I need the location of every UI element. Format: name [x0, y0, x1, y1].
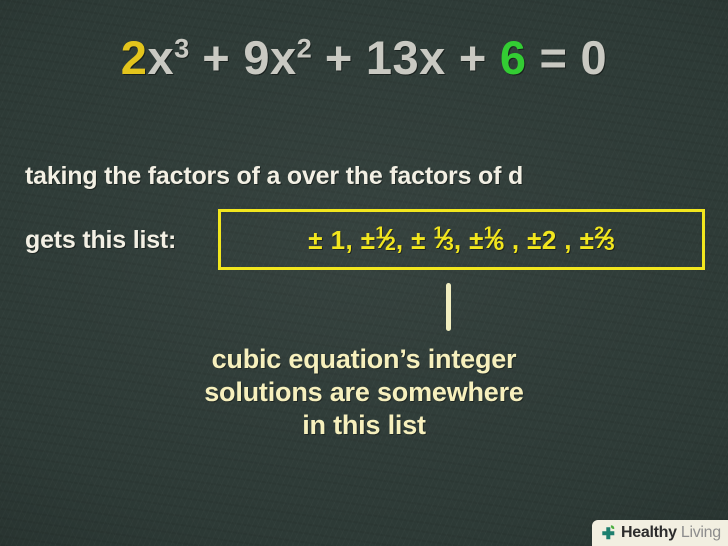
equation-leading-coefficient: 2 [121, 31, 148, 84]
root-item-3: ± 1⁄3 [411, 225, 454, 255]
equation-zero: 0 [581, 31, 608, 84]
fraction-denominator: 3 [443, 232, 454, 254]
fraction-two-thirds: 2⁄3 [594, 223, 614, 255]
brand-name-bold: Healthy [621, 524, 677, 541]
equation-x-2: x [270, 31, 297, 84]
equation-exponent-3: 3 [174, 32, 189, 63]
caption-line-3: in this list [0, 409, 728, 442]
plus-minus-sign: ± [308, 225, 323, 255]
callout-connector-line [446, 283, 451, 331]
equation-c-coefficient: 13 [366, 31, 419, 84]
instruction-line-gets-list: gets this list: [25, 226, 176, 255]
equation-equals-sign: = [540, 31, 568, 84]
list-separator-5: , [557, 225, 580, 255]
equation-b-coefficient: 9 [243, 31, 270, 84]
root-item-6: ±2⁄3 [580, 225, 615, 255]
caption-line-1: cubic equation’s integer [0, 343, 728, 376]
root-value: 1 [331, 225, 346, 255]
fraction-denominator: 6 [493, 232, 504, 254]
list-separator-3: , [454, 225, 469, 255]
plus-minus-sign: ± [411, 225, 426, 255]
list-separator-1: , [345, 225, 360, 255]
plus-minus-sign: ± [580, 225, 595, 255]
fraction-denominator: 3 [604, 232, 615, 254]
root-value: 2 [542, 225, 557, 255]
plus-minus-sign: ± [469, 225, 484, 255]
root-item-4: ±1⁄6 [469, 225, 504, 255]
equation-constant-term: 6 [500, 31, 527, 84]
candidate-roots-list: ± 1, ±1⁄2, ± 1⁄3, ±1⁄6 , ±2 , ±2⁄3 [302, 224, 620, 256]
chalkboard-canvas: 2x3 + 9x2 + 13x + 6 = 0 taking the facto… [0, 0, 728, 546]
candidate-roots-box: ± 1, ±1⁄2, ± 1⁄3, ±1⁄6 , ±2 , ±2⁄3 [218, 209, 705, 270]
equation-x-3: x [419, 31, 446, 84]
root-item-5: ±2 [527, 225, 557, 255]
brand-name-light: Living [677, 524, 721, 541]
fraction-one-third: 1⁄3 [433, 223, 453, 255]
root-item-2: ±1⁄2 [361, 225, 396, 255]
brand-logo: Healthy Living [592, 520, 728, 546]
plus-minus-sign: ± [361, 225, 376, 255]
equation-line: 2x3 + 9x2 + 13x + 6 = 0 [0, 30, 728, 85]
plus-leaf-icon [599, 524, 618, 543]
caption-line-2: solutions are somewhere [0, 376, 728, 409]
equation-plus-2: + [325, 31, 353, 84]
list-separator-2: , [396, 225, 411, 255]
fraction-denominator: 2 [385, 232, 396, 254]
equation-plus-3: + [459, 31, 487, 84]
root-item-1: ± 1 [308, 225, 345, 255]
fraction-one-sixth: 1⁄6 [484, 223, 504, 255]
equation-plus-1: + [202, 31, 230, 84]
plus-minus-sign: ± [527, 225, 542, 255]
caption-block: cubic equation’s integer solutions are s… [0, 343, 728, 442]
list-separator-4: , [504, 225, 527, 255]
equation-x-1: x [147, 31, 174, 84]
brand-logo-text: Healthy Living [621, 525, 721, 541]
equation-exponent-2: 2 [297, 32, 312, 63]
instruction-line-factors: taking the factors of a over the factors… [25, 162, 523, 191]
fraction-one-half: 1⁄2 [375, 223, 395, 255]
